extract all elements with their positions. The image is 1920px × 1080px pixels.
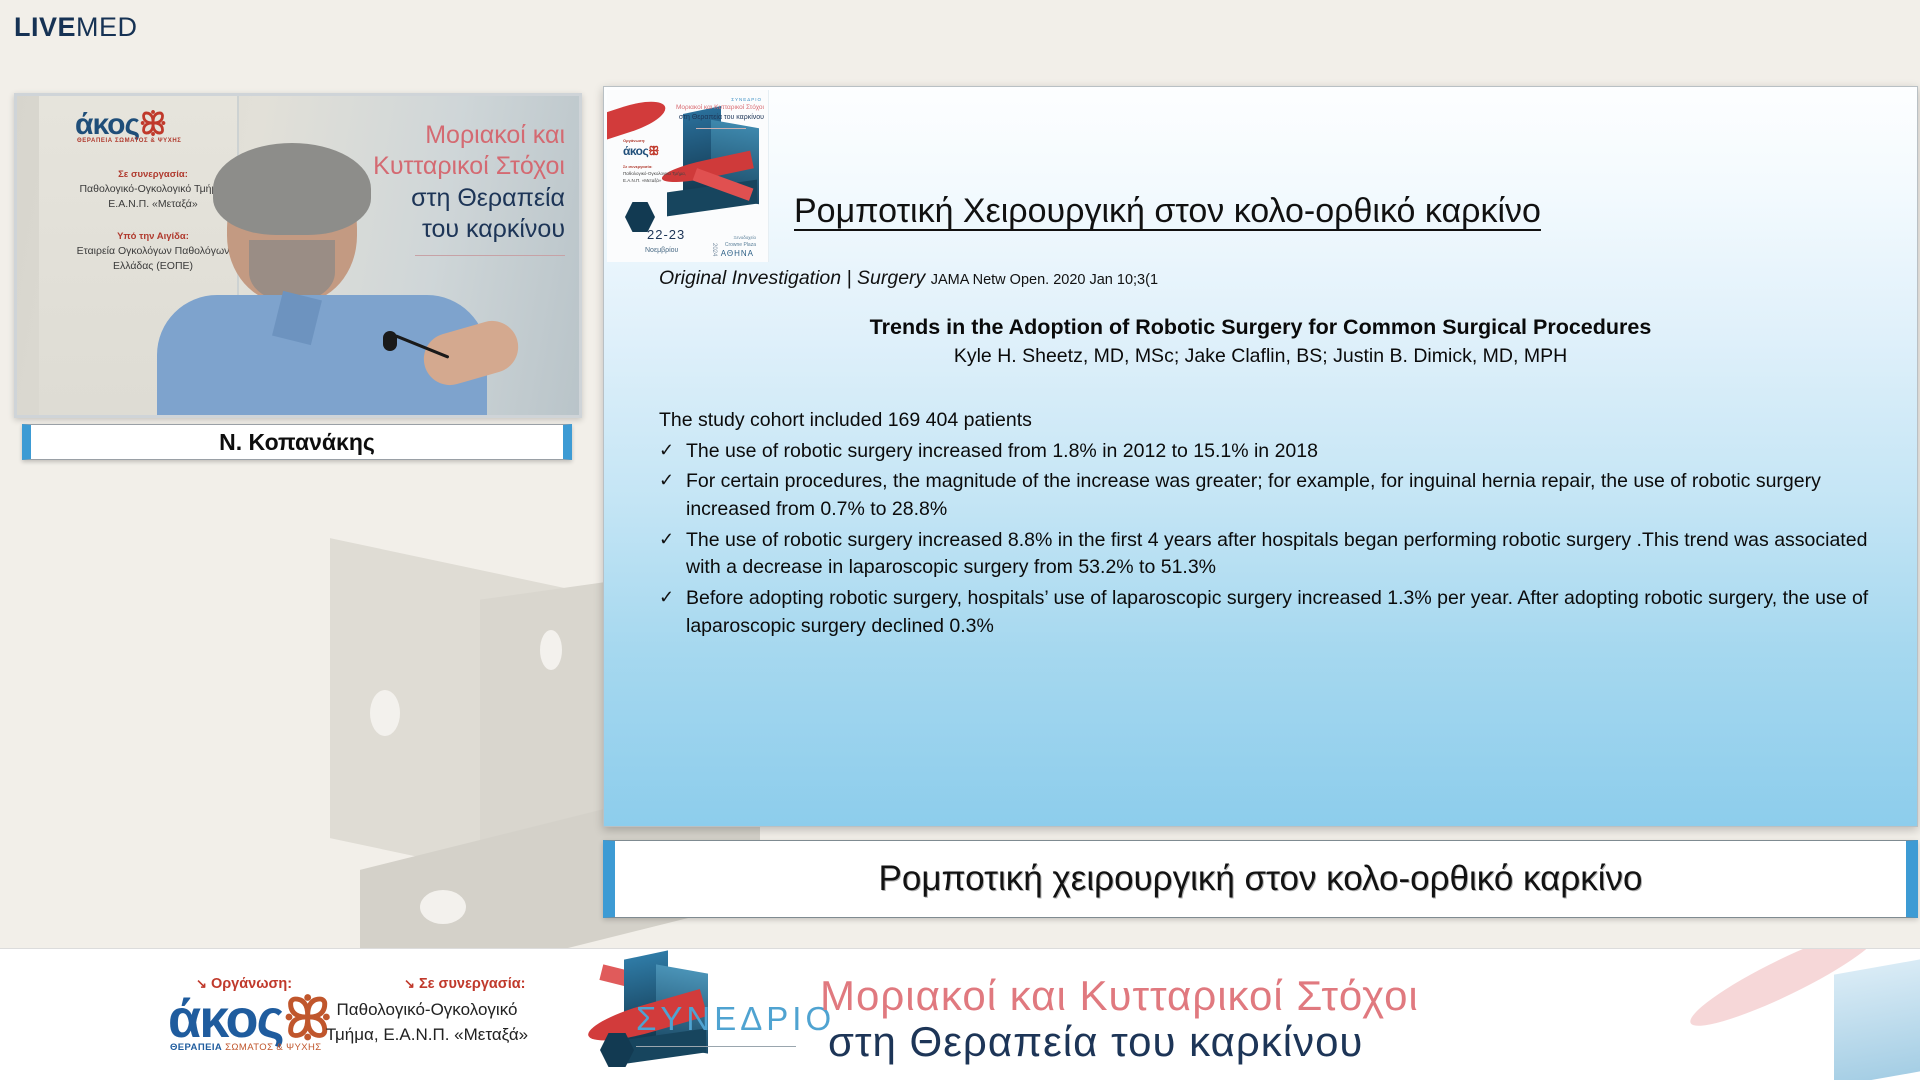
speaker-name: Ν. Κοπανάκης: [219, 429, 375, 456]
footer-coop-line2: Τμήμα, Ε.Α.Ν.Π. «Μεταξά»: [312, 1023, 542, 1048]
speaker-nameplate: Ν. Κοπανάκης: [22, 424, 572, 460]
footer-coop-text: Παθολογικό-Ογκολογικό Τμήμα, Ε.Α.Ν.Π. «Μ…: [312, 998, 542, 1047]
footer-coop-label: ↘ Σε συνεργασία:: [404, 976, 526, 992]
list-item: ✓ The use of robotic surgery increased 8…: [659, 527, 1885, 582]
citation-section: Original Investigation | Surgery: [659, 267, 925, 289]
paper-title: Trends in the Adoption of Robotic Surger…: [604, 315, 1917, 340]
thumb-coop-label: Σε συνεργασία:: [623, 164, 652, 169]
footer-coop-line1: Παθολογικό-Ογκολογικό: [312, 998, 542, 1023]
thumb-coop-text: Παθολογικό-Ογκολογικό Τμήμα, Ε.Α.Ν.Π. «Μ…: [623, 171, 697, 185]
talk-title-banner: Ρομποτική χειρουργική στον κολο-ορθικό κ…: [603, 840, 1918, 918]
bullet-text: Before adopting robotic surgery, hospita…: [686, 585, 1885, 640]
footer-title-red: Μοριακοί και Κυτταρικοί Στόχοι: [820, 972, 1419, 1020]
thumb-venue-name: Crowne Plaza: [725, 242, 756, 248]
bullet-text: The use of robotic surgery increased fro…: [686, 438, 1885, 466]
bullet-text: The use of robotic surgery increased 8.8…: [686, 527, 1885, 582]
list-item: ✓ For certain procedures, the magnitude …: [659, 468, 1885, 523]
thumb-title-navy: στη Θεραπεία του καρκίνου: [679, 114, 764, 121]
list-item: ✓ Before adopting robotic surgery, hospi…: [659, 585, 1885, 640]
slide-poster-thumbnail: ΣΥΝΕΔΡΙΟ Μοριακοί και Κυτταρικοί Στόχοι …: [607, 90, 769, 262]
arrow-icon: ↘: [404, 976, 415, 991]
thumb-akos-logo: άκοςꕥ: [623, 144, 659, 159]
thumb-year: 2024: [711, 243, 717, 256]
footer-congress-rule: [636, 1046, 796, 1047]
slide-title: Ρομποτική Χειρουργική στον κολο-ορθικό κ…: [794, 192, 1899, 231]
thumb-org-label: Οργάνωση:: [623, 138, 645, 143]
thumb-venue-label: Ξενοδοχείο: [734, 235, 756, 240]
brand-live: LIVE: [14, 12, 76, 42]
footer-congress-word: ΣΥΝΕΔΡΙΟ: [636, 1000, 835, 1038]
akos-logo-backdrop: άκοςꕥ: [75, 108, 166, 142]
list-item: ✓ The use of robotic surgery increased f…: [659, 438, 1885, 466]
footer-coop-label-text: Σε συνεργασία:: [419, 976, 526, 992]
talk-title: Ρομποτική χειρουργική στον κολο-ορθικό κ…: [879, 859, 1643, 899]
thumb-month: Νοεμβρίου: [645, 247, 678, 254]
slide-body: The study cohort included 169 404 patien…: [659, 407, 1885, 641]
check-icon: ✓: [659, 585, 675, 611]
check-icon: ✓: [659, 527, 675, 553]
brand-med: MED: [76, 12, 138, 42]
paper-authors: Kyle H. Sheetz, MD, MSc; Jake Claflin, B…: [604, 345, 1917, 368]
thumb-congress-label: ΣΥΝΕΔΡΙΟ: [731, 97, 762, 102]
akos-logo-subtitle: ΘΕΡΑΠΕΙΑ ΣΩΜΑΤΟΣ & ΨΥΧΗΣ: [77, 138, 182, 144]
footer-title-navy: στη Θεραπεία του καρκίνου: [828, 1018, 1363, 1066]
footer-akos-sub-blue: ΘΕΡΑΠΕΙΑ: [170, 1042, 225, 1053]
speaker-video[interactable]: άκοςꕥ ΘΕΡΑΠΕΙΑ ΣΩΜΑΤΟΣ & ΨΥΧΗΣ Σε συνεργ…: [14, 93, 582, 418]
thumb-venue-city: ΑΘΗΝΑ: [721, 249, 754, 258]
thumb-date: 22-23: [647, 227, 685, 242]
footer-akos-logo: άκοςꕥ: [168, 992, 331, 1046]
check-icon: ✓: [659, 438, 675, 464]
thumb-title-red: Μοριακοί και Κυτταρικοί Στόχοι: [676, 104, 764, 111]
check-icon: ✓: [659, 468, 675, 494]
footer-akos-subtitle: ΘΕΡΑΠΕΙΑ ΣΩΜΑΤΟΣ & ΨΥΧΗΣ: [170, 1042, 322, 1053]
presentation-page: LIVEMED άκοςꕥ ΘΕΡΑΠΕΙΑ ΣΩΜΑΤΟΣ & ΨΥΧΗΣ Σ…: [0, 0, 1920, 1080]
livemed-logo: LIVEMED: [14, 14, 138, 41]
bullet-text: For certain procedures, the magnitude of…: [686, 468, 1885, 523]
footer-akos-sub-red: ΣΩΜΑΤΟΣ & ΨΥΧΗΣ: [225, 1042, 321, 1053]
citation-journal: JAMA Netw Open. 2020 Jan 10;3(1: [931, 272, 1158, 288]
presentation-slide[interactable]: ΣΥΝΕΔΡΙΟ Μοριακοί και Κυτταρικοί Στόχοι …: [603, 86, 1918, 827]
cohort-lead: The study cohort included 169 404 patien…: [659, 407, 1885, 435]
journal-citation: Original Investigation | Surgery JAMA Ne…: [659, 267, 1158, 290]
speaker-figure: [167, 145, 467, 415]
